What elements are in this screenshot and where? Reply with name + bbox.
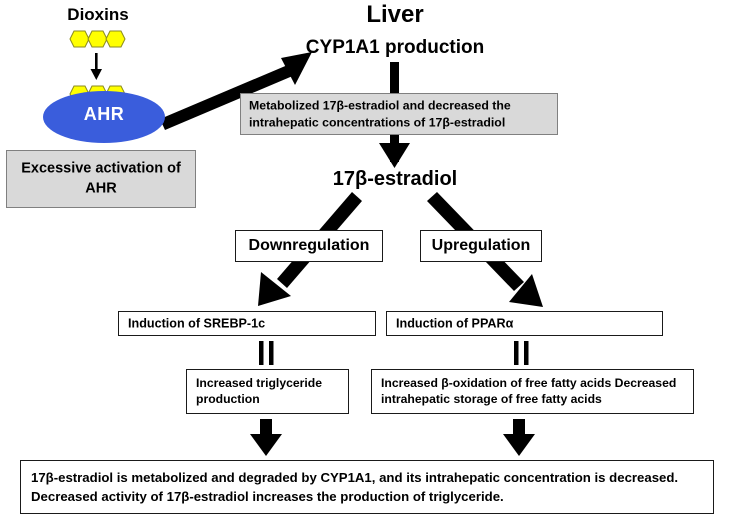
fatty-acids-outcome-box: Increased β-oxidation of free fatty acid… [371,369,694,414]
lower-connector-layer [0,0,733,525]
fatty-acids-outcome-label: Increased β-oxidation of free fatty acid… [372,375,693,409]
triglyceride-outcome-box: Increased triglyceride production [186,369,349,414]
summary-conclusion-box: 17β-estradiol is metabolized and degrade… [20,460,714,514]
triglyceride-outcome-label: Increased triglyceride production [187,375,348,409]
fatty-acids-to-summary-arrow [503,419,535,456]
equals-connector-left [259,341,274,365]
triglyceride-to-summary-arrow [250,419,282,456]
diagram-canvas: Excessive activation of AHR Metabolized … [0,0,733,525]
equals-connector-right [514,341,529,365]
summary-conclusion-text: 17β-estradiol is metabolized and degrade… [21,468,713,506]
